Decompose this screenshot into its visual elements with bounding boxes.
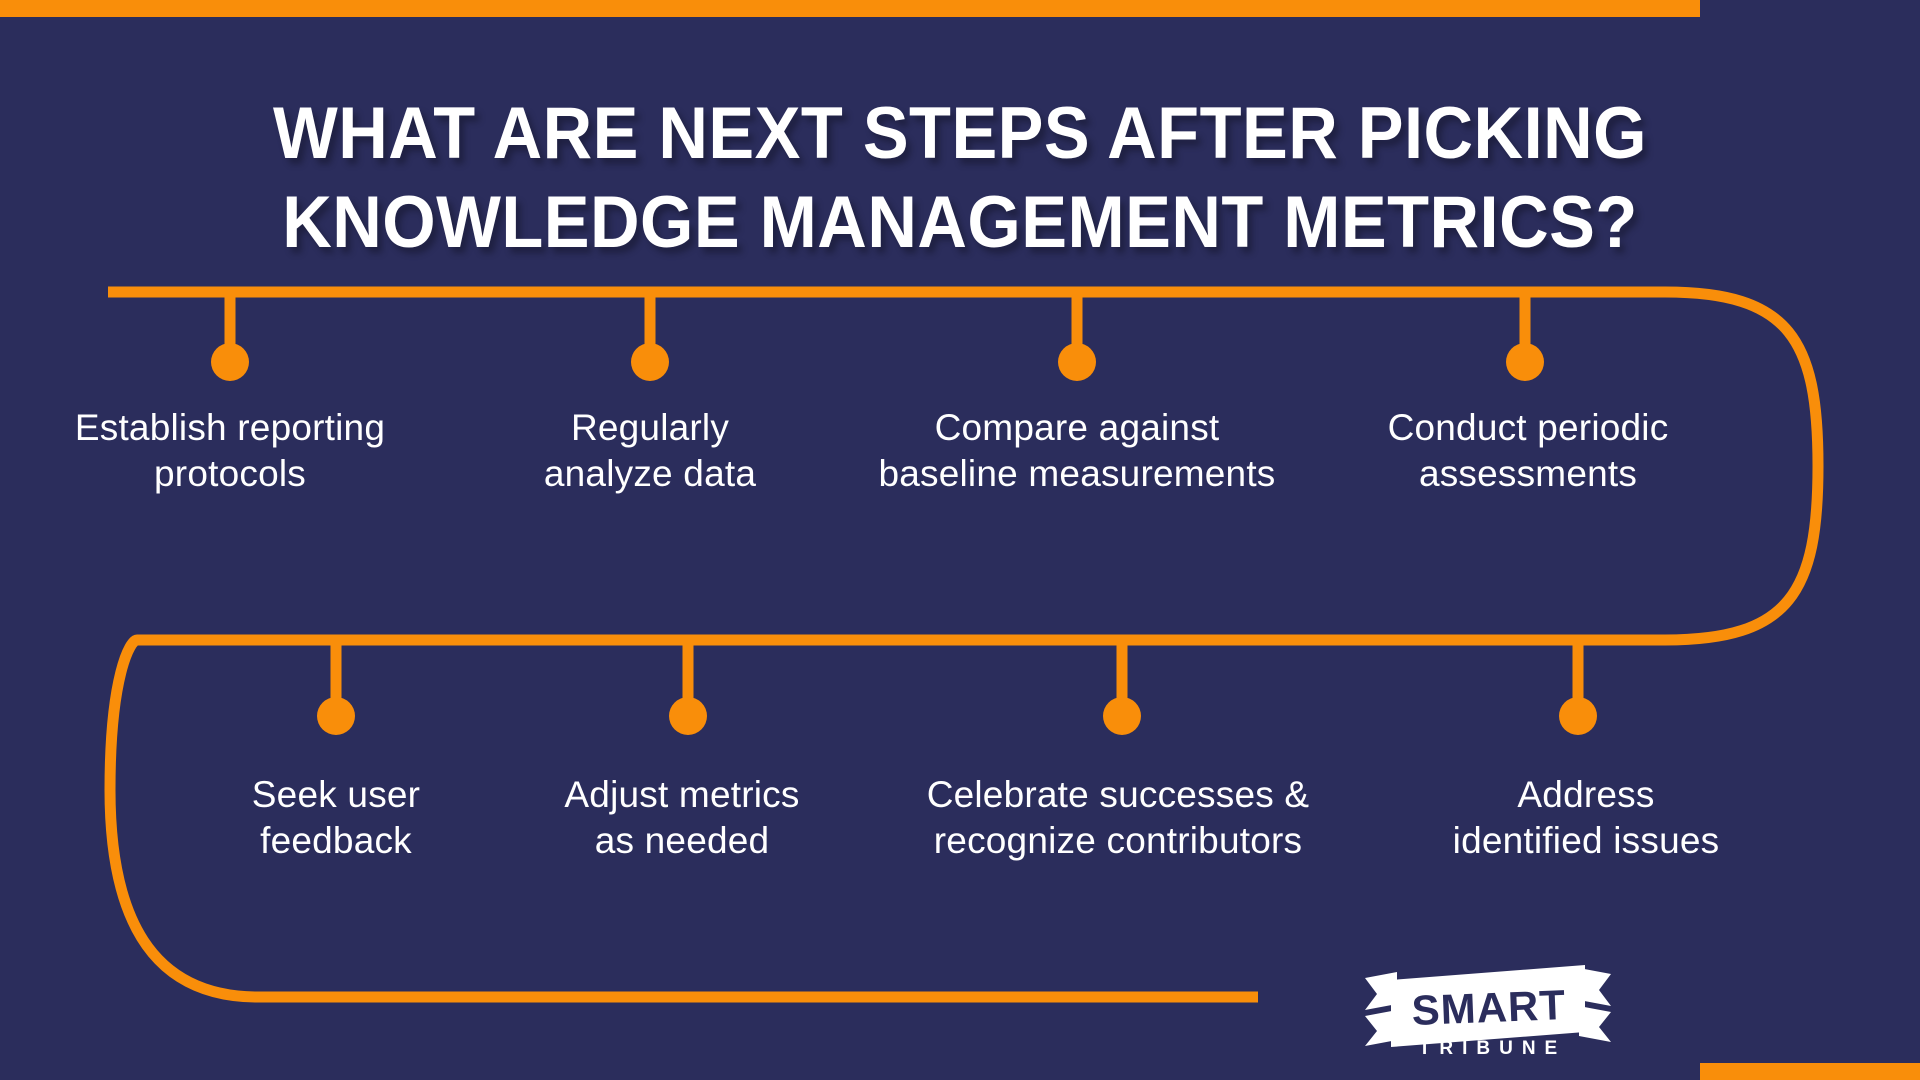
page-title: What are next steps after picking knowle… [58, 89, 1863, 267]
node-dot [1058, 343, 1096, 381]
logo-subtitle-text: TRIBUNE [1363, 1038, 1613, 1060]
node-label-address-identified-issues: Address identified issues [1396, 772, 1776, 864]
timeline-node-row2-4 [1559, 640, 1597, 735]
node-label-seek-user-feedback: Seek user feedback [171, 772, 501, 864]
timeline-node-row2-2 [669, 640, 707, 735]
node-dot [631, 343, 669, 381]
logo-brand-text: SMART [1411, 981, 1567, 1034]
timeline-node-row1-2 [631, 292, 669, 381]
flow-path [108, 292, 1818, 997]
node-label-celebrate-successes: Celebrate successes & recognize contribu… [878, 772, 1358, 864]
node-dot [317, 697, 355, 735]
infographic-slide: What are next steps after picking knowle… [0, 0, 1920, 1080]
timeline-node-row1-4 [1506, 292, 1544, 381]
timeline-node-row1-1 [211, 292, 249, 381]
bottom-accent-bar [1700, 1063, 1920, 1080]
node-dot [1103, 697, 1141, 735]
node-dot [1559, 697, 1597, 735]
timeline-node-row1-3 [1058, 292, 1096, 381]
node-label-adjust-metrics-as-needed: Adjust metrics as needed [502, 772, 862, 864]
node-dot [1506, 343, 1544, 381]
node-label-conduct-periodic-assessments: Conduct periodic assessments [1328, 405, 1728, 497]
node-label-establish-reporting-protocols: Establish reporting protocols [20, 405, 440, 497]
node-label-compare-against-baseline: Compare against baseline measurements [827, 405, 1327, 497]
node-dot [669, 697, 707, 735]
timeline-node-row2-3 [1103, 640, 1141, 735]
timeline-node-row2-1 [317, 640, 355, 735]
top-accent-bar [0, 0, 1700, 17]
node-label-regularly-analyze-data: Regularly analyze data [470, 405, 830, 497]
node-dot [211, 343, 249, 381]
